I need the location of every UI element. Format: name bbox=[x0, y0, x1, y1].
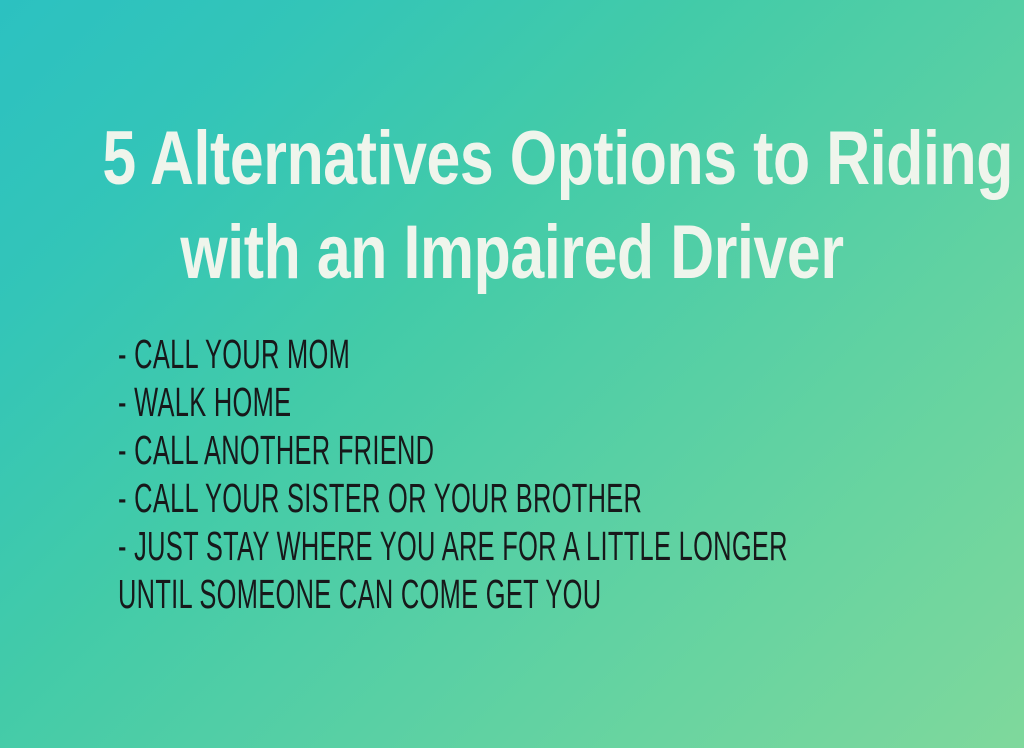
list-item: - CALL YOUR SISTER OR YOUR BROTHER bbox=[118, 474, 670, 522]
title-line-2: with an Impaired Driver bbox=[102, 206, 921, 300]
page-title: 5 Alternatives Options to Riding with an… bbox=[0, 112, 1024, 300]
list-item: - WALK HOME bbox=[118, 378, 670, 426]
list-item: - CALL ANOTHER FRIEND bbox=[118, 426, 670, 474]
list-item-continuation: UNTIL SOMEONE CAN COME GET YOU bbox=[118, 570, 670, 618]
slide-canvas: 5 Alternatives Options to Riding with an… bbox=[0, 0, 1024, 748]
list-item: - JUST STAY WHERE YOU ARE FOR A LITTLE L… bbox=[118, 522, 670, 570]
list-item: - CALL YOUR MOM bbox=[118, 330, 670, 378]
alternatives-list: - CALL YOUR MOM - WALK HOME - CALL ANOTH… bbox=[118, 330, 1008, 618]
title-line-1: 5 Alternatives Options to Riding bbox=[102, 112, 921, 206]
